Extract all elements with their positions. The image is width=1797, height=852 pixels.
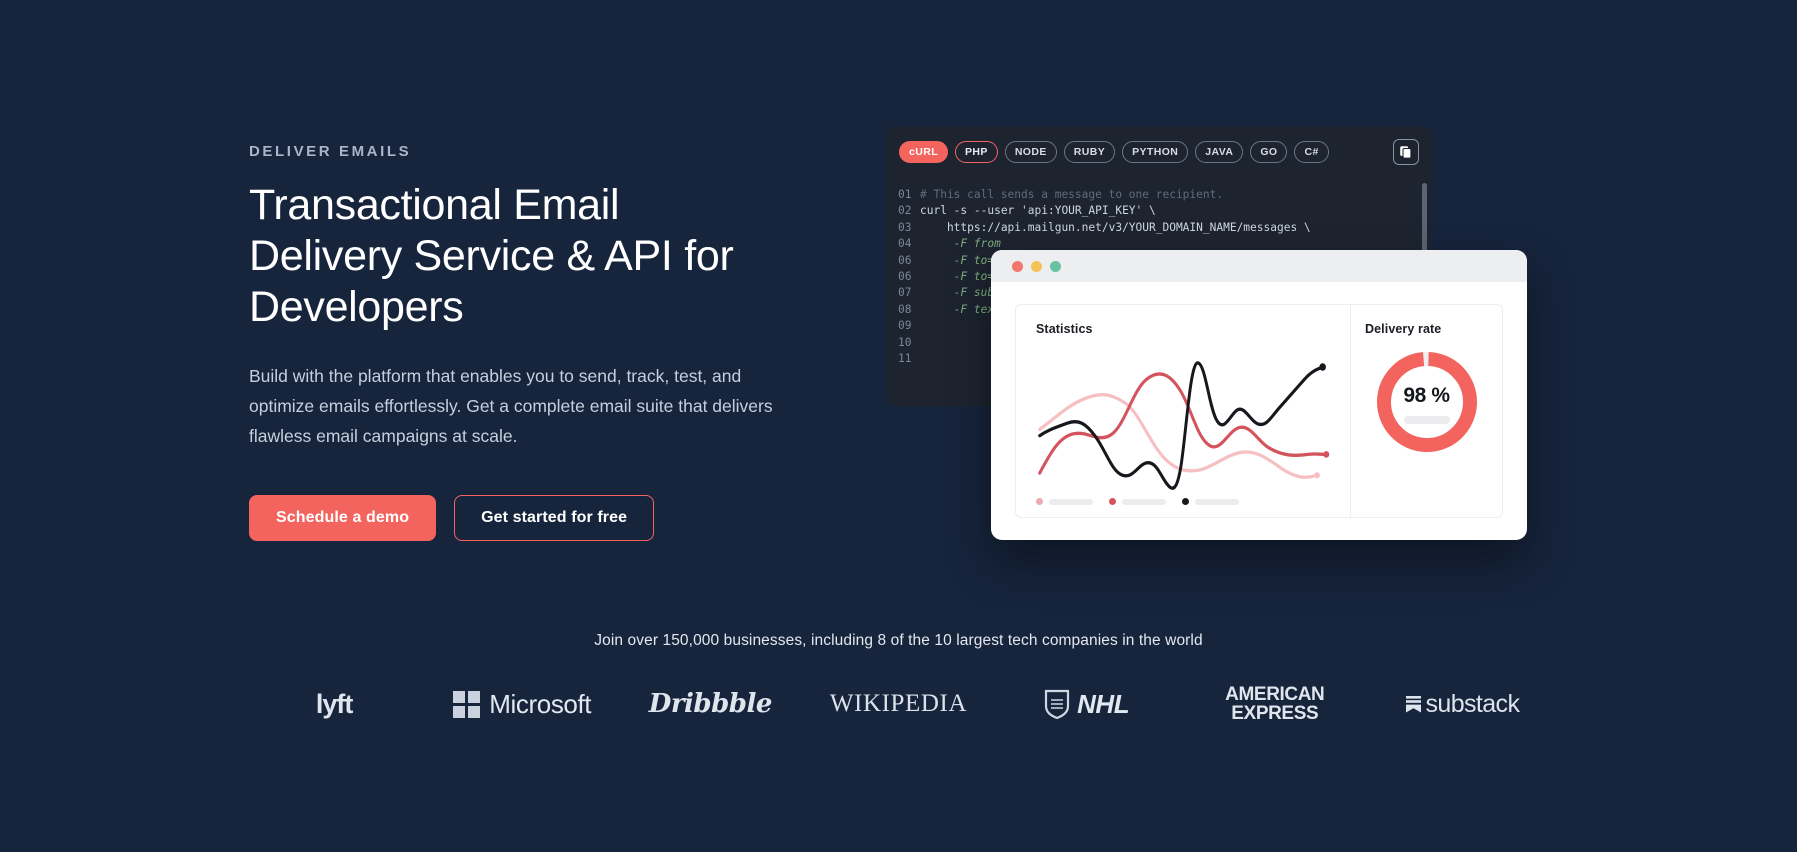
get-started-button[interactable]: Get started for free — [454, 495, 654, 541]
logo-microsoft: Microsoft — [428, 678, 616, 730]
code-line-text: -F to=b — [920, 269, 1001, 285]
logo-amex-line2: EXPRESS — [1225, 704, 1324, 723]
hero-section: DELIVER EMAILS Transactional Email Deliv… — [249, 143, 809, 541]
logo-dribbble: Dribbble — [616, 678, 804, 730]
chart-legend-placeholder — [1195, 499, 1239, 505]
window-maximize-dot[interactable] — [1050, 261, 1061, 272]
chart-legend-dot — [1036, 498, 1043, 505]
logo-wikipedia: WIKIPEDIA — [804, 678, 992, 730]
code-line: 01# This call sends a message to one rec… — [898, 187, 1432, 203]
statistics-title: Statistics — [1036, 322, 1093, 336]
logo-lyft-label: lyft — [316, 689, 353, 720]
code-line-number: 09 — [898, 318, 920, 334]
nhl-shield-icon — [1044, 689, 1070, 719]
dashboard-preview-card: Statistics Delivery rate — [991, 250, 1527, 540]
customer-logo-row: lyft Microsoft Dribbble WIKIPEDIA — [0, 678, 1797, 730]
logo-american-express: AMERICAN EXPRESS — [1181, 678, 1369, 730]
logo-wikipedia-label: WIKIPEDIA — [830, 690, 967, 718]
chart-legend-item — [1036, 498, 1093, 505]
code-tab-python[interactable]: PYTHON — [1122, 141, 1188, 163]
logo-substack-label: substack — [1425, 690, 1519, 719]
dashboard-body: Statistics Delivery rate — [991, 282, 1527, 540]
code-line-text: https://api.mailgun.net/v3/YOUR_DOMAIN_N… — [920, 220, 1311, 236]
code-line: 02curl -s --user 'api:YOUR_API_KEY' \ — [898, 203, 1432, 219]
logo-nhl: NHL — [993, 678, 1181, 730]
code-line-text: -F from — [920, 236, 1001, 252]
schedule-demo-button[interactable]: Schedule a demo — [249, 495, 436, 541]
hero-cta-row: Schedule a demo Get started for free — [249, 495, 809, 541]
code-line-text: -F subj — [920, 285, 1001, 301]
window-titlebar — [991, 250, 1527, 282]
statistics-line-chart — [1036, 340, 1330, 496]
logo-amex-line1: AMERICAN — [1225, 685, 1324, 704]
window-minimize-dot[interactable] — [1031, 261, 1042, 272]
window-close-dot[interactable] — [1012, 261, 1023, 272]
code-line-number: 10 — [898, 335, 920, 351]
code-line-text: -F to=Y — [920, 253, 1001, 269]
logo-amex-mark: AMERICAN EXPRESS — [1225, 685, 1324, 724]
code-line-number: 06 — [898, 269, 920, 285]
social-proof-section: Join over 150,000 businesses, including … — [0, 632, 1797, 730]
substack-bookmark-icon — [1406, 695, 1421, 713]
logo-substack: substack — [1369, 678, 1557, 730]
page-title: Transactional Email Delivery Service & A… — [249, 180, 759, 333]
code-tab-php[interactable]: PHP — [955, 141, 998, 163]
code-line-number: 08 — [898, 302, 920, 318]
logo-microsoft-mark: Microsoft — [453, 689, 591, 720]
logo-dribbble-label: Dribbble — [649, 689, 772, 719]
code-line-text: # This call sends a message to one recip… — [920, 187, 1223, 203]
code-line-text: curl -s --user 'api:YOUR_API_KEY' \ — [920, 203, 1156, 219]
chart-legend-placeholder — [1122, 499, 1166, 505]
code-tab-ruby[interactable]: RUBY — [1064, 141, 1115, 163]
code-tab-java[interactable]: JAVA — [1195, 141, 1243, 163]
chart-legend — [1036, 498, 1330, 505]
code-line-text: -F text — [920, 302, 1001, 318]
chart-legend-item — [1182, 498, 1239, 505]
chart-legend-placeholder — [1049, 499, 1093, 505]
social-proof-text: Join over 150,000 businesses, including … — [0, 632, 1797, 650]
microsoft-squares-icon — [453, 691, 480, 718]
code-language-tabs: cURLPHPNODERUBYPYTHONJAVAGOC# — [899, 141, 1329, 163]
code-line-number: 01 — [898, 187, 920, 203]
chart-legend-dot — [1109, 498, 1116, 505]
delivery-rate-title: Delivery rate — [1365, 322, 1441, 336]
chart-legend-item — [1109, 498, 1166, 505]
delivery-rate-donut: 98 % — [1373, 348, 1481, 456]
hero-subcopy: Build with the platform that enables you… — [249, 361, 779, 451]
chart-legend-dot — [1182, 498, 1189, 505]
logo-lyft: lyft — [240, 678, 428, 730]
code-line-number: 11 — [898, 351, 920, 367]
logo-microsoft-label: Microsoft — [489, 689, 591, 720]
delivery-rate-value: 98 % — [1373, 384, 1481, 408]
logo-nhl-label: NHL — [1077, 689, 1129, 720]
code-line-number: 07 — [898, 285, 920, 301]
code-line-number: 02 — [898, 203, 920, 219]
code-tab-go[interactable]: GO — [1250, 141, 1287, 163]
delivery-rate-panel: Delivery rate 98 % — [1350, 304, 1503, 518]
code-line-number: 03 — [898, 220, 920, 236]
logo-substack-mark: substack — [1406, 690, 1519, 719]
code-tab-node[interactable]: NODE — [1005, 141, 1057, 163]
statistics-panel: Statistics — [1015, 304, 1350, 518]
logo-nhl-mark: NHL — [1044, 689, 1129, 720]
code-tab-c[interactable]: C# — [1294, 141, 1328, 163]
copy-document-icon[interactable] — [1393, 139, 1419, 165]
code-line: 03 https://api.mailgun.net/v3/YOUR_DOMAI… — [898, 220, 1432, 236]
delivery-rate-placeholder-bar — [1404, 416, 1450, 424]
code-line-number: 04 — [898, 236, 920, 252]
code-line-number: 06 — [898, 253, 920, 269]
code-tab-curl[interactable]: cURL — [899, 141, 948, 163]
hero-eyebrow: DELIVER EMAILS — [249, 143, 809, 160]
